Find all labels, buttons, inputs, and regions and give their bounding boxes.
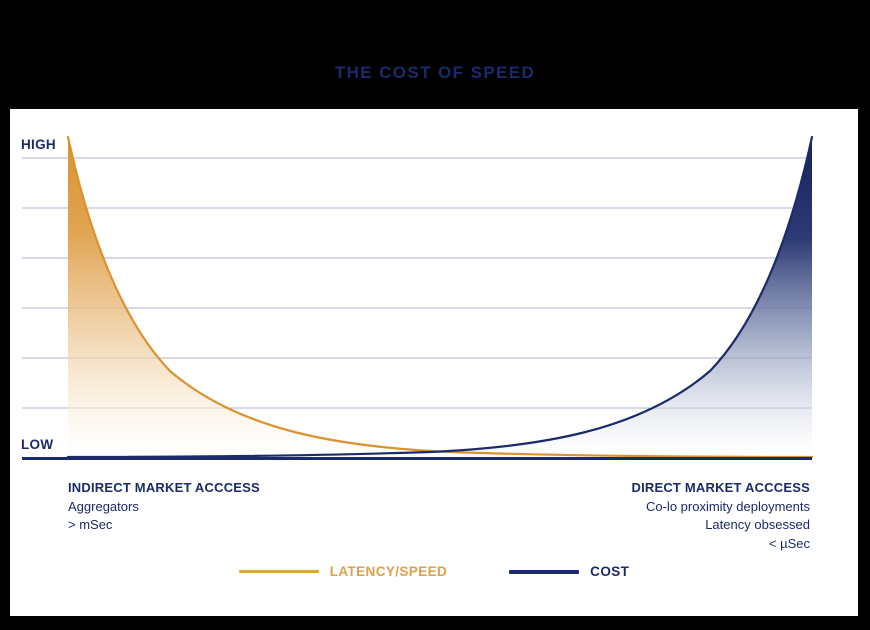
legend-item-cost: COST [509, 564, 629, 579]
chart-svg [10, 109, 858, 464]
annotation-direct-market-access: DIRECT MARKET ACCCESS Co-lo proximity de… [631, 479, 810, 553]
annotation-indirect-market-access: INDIRECT MARKET ACCCESS Aggregators > mS… [68, 479, 260, 535]
chart-plot-area: HIGH LOW [10, 109, 858, 464]
legend-swatch-cost-icon [509, 570, 579, 574]
annotation-right-heading: DIRECT MARKET ACCCESS [631, 479, 810, 498]
legend-swatch-latency-speed-icon [239, 570, 319, 574]
annotation-left-line-2: > mSec [68, 516, 260, 535]
chart-legend: LATENCY/SPEED COST [10, 564, 858, 579]
annotation-left-heading: INDIRECT MARKET ACCCESS [68, 479, 260, 498]
legend-item-latency-speed: LATENCY/SPEED [239, 564, 447, 579]
legend-label-latency-speed: LATENCY/SPEED [330, 564, 447, 579]
chart-card: HIGH LOW INDIRECT MARKET ACCCESS Aggrega… [10, 109, 858, 616]
annotation-right-line-3: < µSec [631, 535, 810, 554]
annotation-right-line-1: Co-lo proximity deployments [631, 498, 810, 517]
y-axis-high-label: HIGH [21, 137, 56, 152]
annotation-left-line-1: Aggregators [68, 498, 260, 517]
page-title: THE COST OF SPEED [0, 63, 870, 83]
annotation-right-line-2: Latency obsessed [631, 516, 810, 535]
screenshot-root: THE COST OF SPEED [0, 0, 870, 630]
y-axis-low-label: LOW [21, 437, 53, 452]
legend-label-cost: COST [590, 564, 629, 579]
